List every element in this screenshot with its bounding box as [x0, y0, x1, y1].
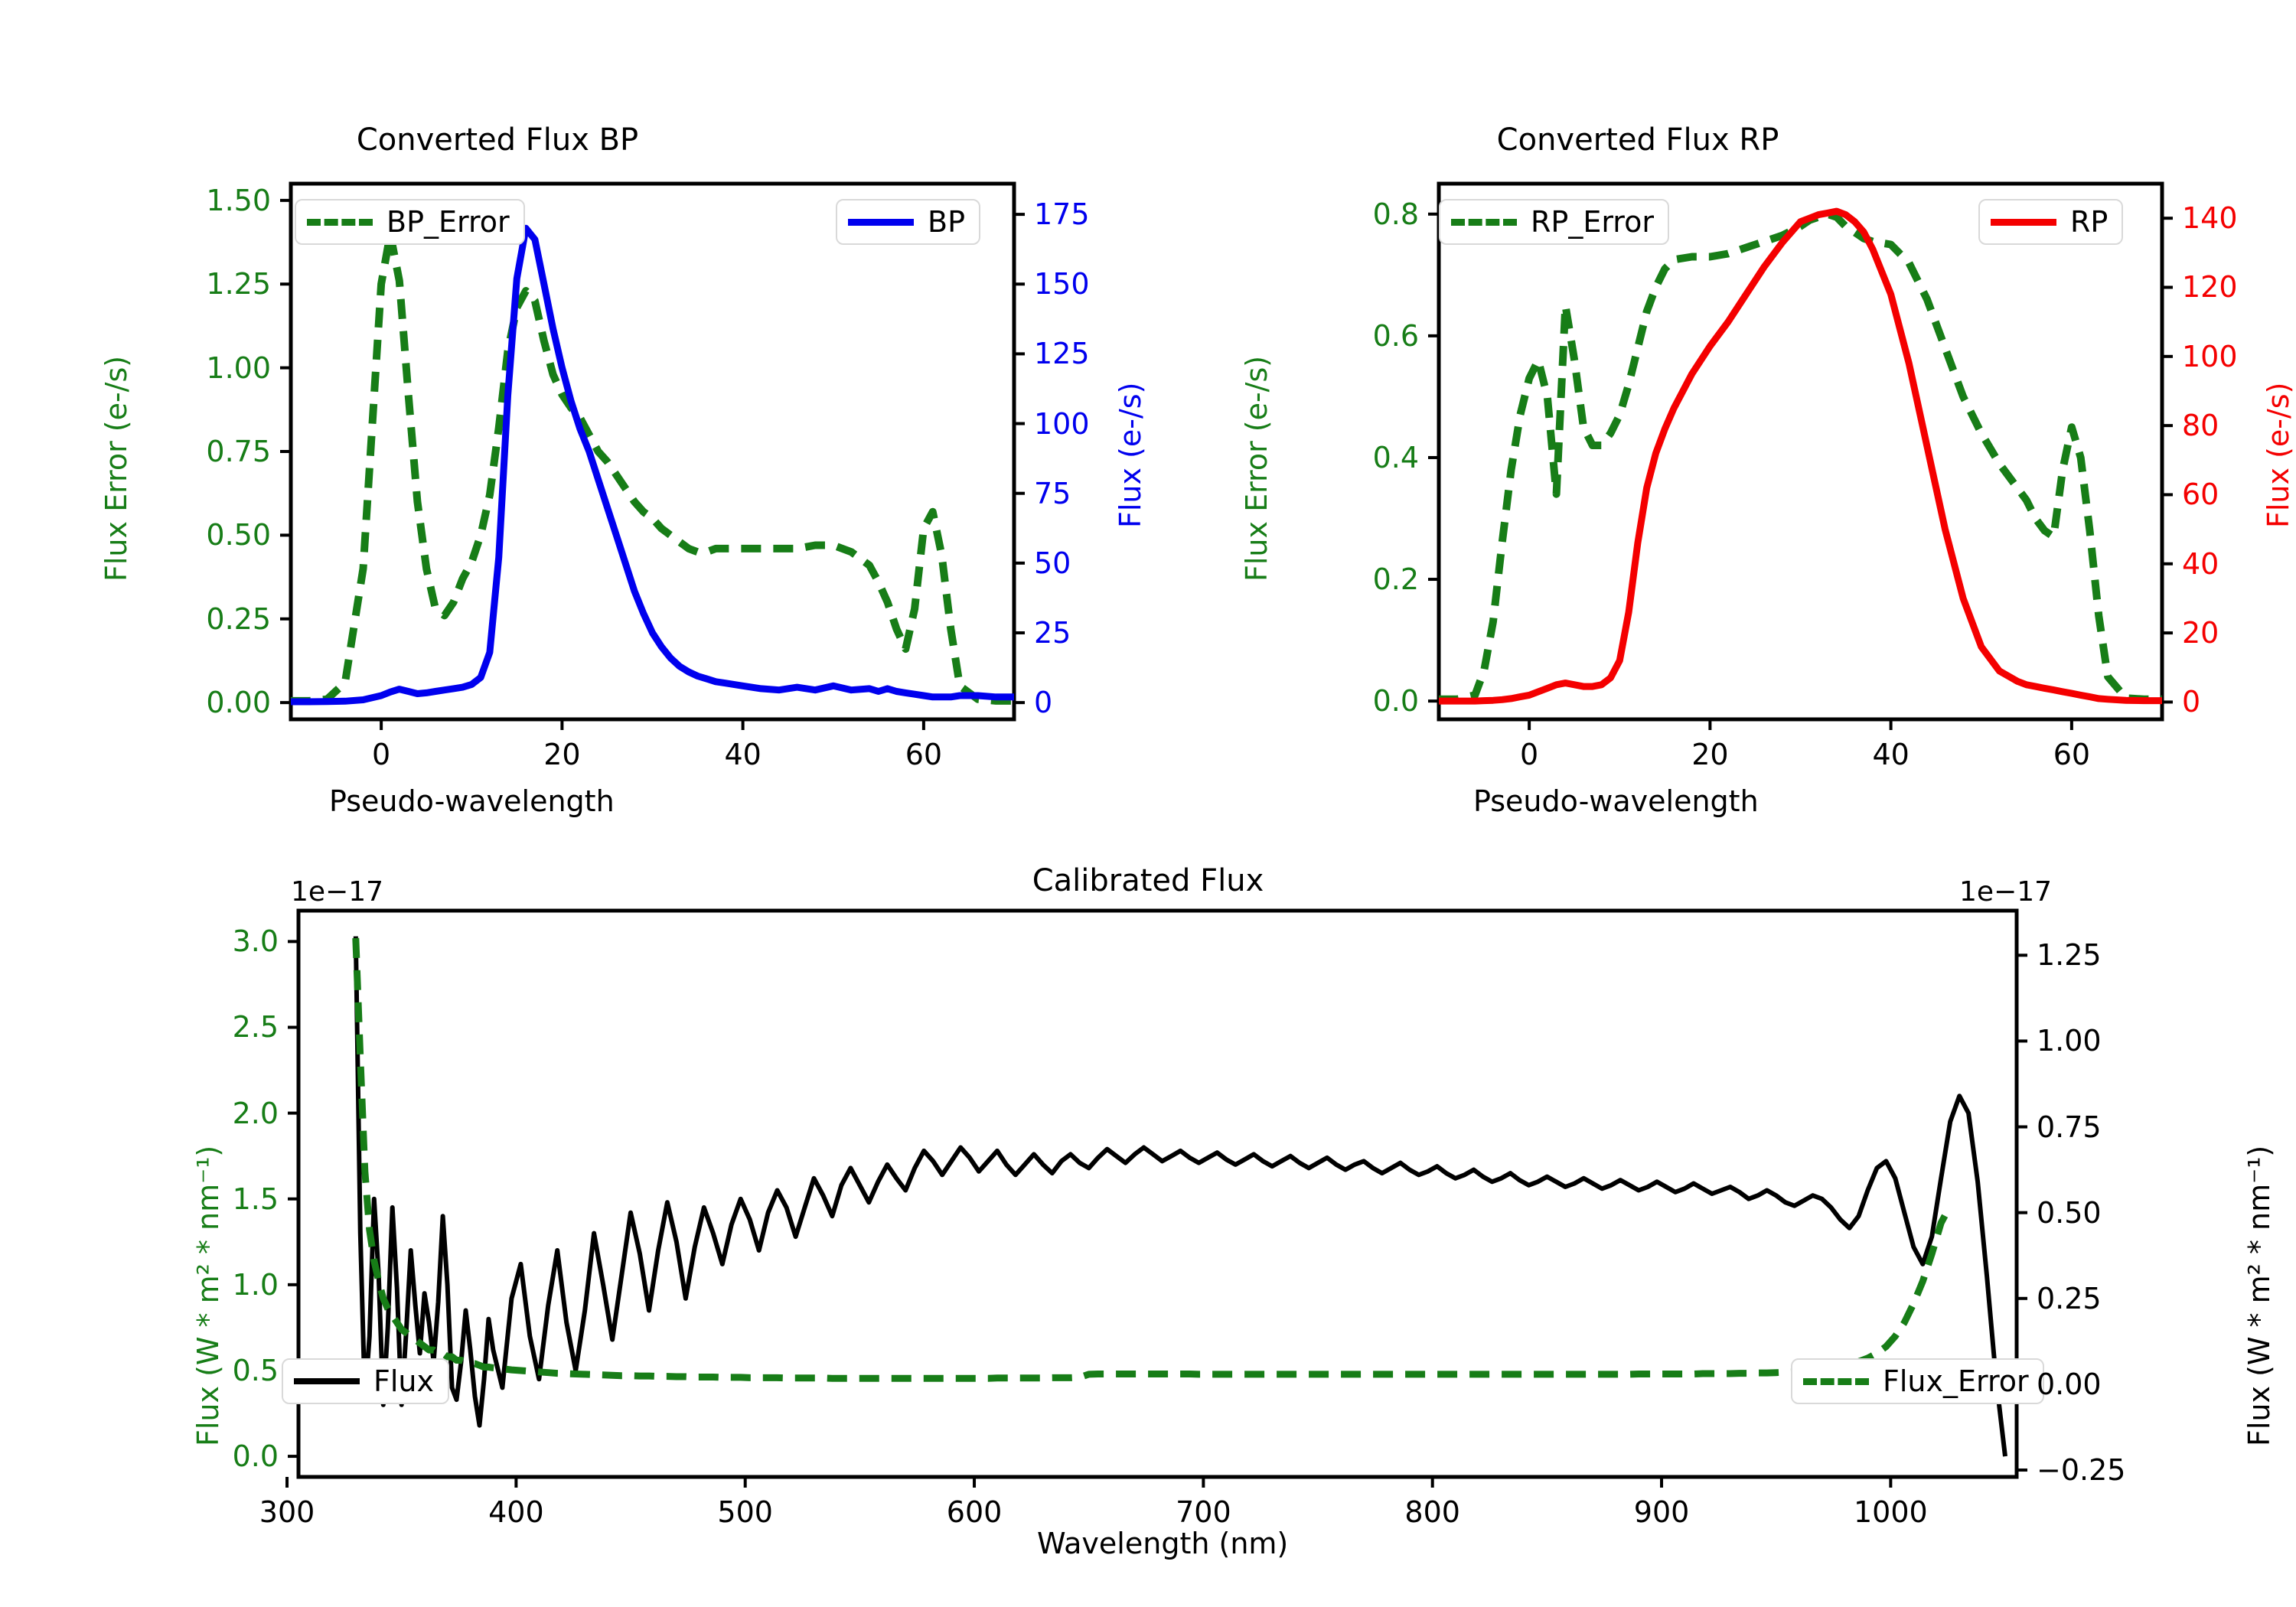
- x-tick-label: 600: [947, 1495, 1003, 1529]
- x-tick-label: 0: [1520, 738, 1538, 771]
- rp-legend[interactable]: RP: [1978, 199, 2123, 245]
- flux-error-legend[interactable]: Flux_Error: [1791, 1358, 2044, 1404]
- y-tick-label-right: 175: [1034, 197, 1090, 231]
- x-tick-label: 60: [905, 738, 942, 771]
- y-tick-label-left: 0.2: [1373, 562, 1419, 596]
- rp-error-legend[interactable]: RP_Error: [1439, 199, 1669, 245]
- y-tick-label-right: 0.50: [2037, 1196, 2102, 1230]
- y-tick-label-left: 0.5: [233, 1354, 279, 1387]
- y-tick-label-right: 20: [2182, 616, 2219, 650]
- y-tick-label-right: 1.25: [2037, 938, 2102, 972]
- y-tick-label-right: 50: [1034, 546, 1071, 580]
- dashed-green-line-icon: [1451, 219, 1517, 226]
- x-tick-label: 800: [1404, 1495, 1460, 1529]
- dashed-green-line-icon: [307, 219, 373, 226]
- y-tick-label-left: 0.00: [206, 686, 271, 719]
- cal-plot-svg: [0, 803, 2296, 1607]
- y-tick-label-right: 0: [2182, 685, 2200, 719]
- y-tick-label-left: 1.5: [233, 1182, 279, 1216]
- plot-frame: [1439, 184, 2162, 719]
- y-tick-label-left: 0.6: [1373, 319, 1419, 353]
- flux-legend[interactable]: Flux: [282, 1358, 449, 1404]
- x-tick-label: 40: [724, 738, 761, 771]
- x-tick-label: 700: [1176, 1495, 1231, 1529]
- y-tick-label-right: 0.25: [2037, 1282, 2102, 1315]
- bp-legend-label: BP: [928, 205, 965, 239]
- y-tick-label-left: 2.0: [233, 1097, 279, 1130]
- y-tick-label-left: 0.50: [206, 518, 271, 552]
- x-tick-label: 500: [717, 1495, 773, 1529]
- series-line-rp: [1439, 211, 2162, 701]
- y-tick-label-right: 40: [2182, 547, 2219, 581]
- rp-error-legend-label: RP_Error: [1531, 205, 1654, 239]
- y-tick-label-left: 0.0: [1373, 684, 1419, 718]
- bp-error-legend[interactable]: BP_Error: [295, 199, 525, 245]
- y-tick-label-left: 1.00: [206, 351, 271, 385]
- y-tick-label-left: 3.0: [233, 924, 279, 958]
- x-tick-label: 40: [1872, 738, 1909, 771]
- y-tick-label-left: 1.25: [206, 267, 271, 301]
- x-tick-label: 400: [488, 1495, 544, 1529]
- y-tick-label-left: 0.75: [206, 435, 271, 468]
- rp-plot-svg: [1148, 0, 2296, 803]
- y-tick-label-right: 25: [1034, 616, 1071, 650]
- y-tick-label-right: −0.25: [2037, 1453, 2125, 1487]
- y-tick-label-left: 0.8: [1373, 197, 1419, 231]
- y-tick-label-right: 140: [2182, 201, 2238, 235]
- y-tick-label-right: 1.00: [2037, 1024, 2102, 1058]
- y-tick-label-right: 0: [1034, 686, 1052, 719]
- y-tick-label-right: 60: [2182, 478, 2219, 511]
- series-line-flux_error: [356, 938, 1950, 1378]
- y-tick-label-right: 80: [2182, 409, 2219, 442]
- flux-legend-label: Flux: [373, 1364, 434, 1398]
- x-tick-label: 900: [1634, 1495, 1690, 1529]
- figure-canvas: Converted Flux BP Flux Error (e-/s) Flux…: [0, 0, 2296, 1607]
- y-tick-label-left: 2.5: [233, 1010, 279, 1044]
- y-tick-label-left: 1.50: [206, 184, 271, 217]
- rp-legend-label: RP: [2070, 205, 2108, 239]
- x-tick-label: 20: [1691, 738, 1728, 771]
- solid-black-line-icon: [294, 1378, 360, 1384]
- y-tick-label-left: 1.0: [233, 1268, 279, 1302]
- y-tick-label-right: 100: [1034, 407, 1090, 441]
- y-tick-label-right: 0.00: [2037, 1367, 2102, 1401]
- solid-blue-line-icon: [848, 219, 914, 226]
- y-tick-label-left: 0.25: [206, 602, 271, 636]
- bp-legend[interactable]: BP: [836, 199, 980, 245]
- y-tick-label-right: 0.75: [2037, 1110, 2102, 1144]
- x-tick-label: 300: [259, 1495, 315, 1529]
- solid-red-line-icon: [1991, 219, 2056, 226]
- x-tick-label: 20: [543, 738, 580, 771]
- series-line-rp_error: [1439, 214, 2162, 699]
- y-tick-label-left: 0.4: [1373, 441, 1419, 474]
- y-tick-label-right: 125: [1034, 337, 1090, 370]
- flux-error-legend-label: Flux_Error: [1883, 1364, 2029, 1398]
- x-tick-label: 60: [2053, 738, 2090, 771]
- y-tick-label-right: 75: [1034, 477, 1071, 510]
- y-tick-label-right: 150: [1034, 267, 1090, 301]
- x-tick-label: 1000: [1854, 1495, 1928, 1529]
- panel-converted-flux-rp: Converted Flux RP Flux Error (e-/s) Flux…: [1148, 0, 2296, 803]
- y-tick-label-left: 0.0: [233, 1439, 279, 1473]
- panel-calibrated-flux: Calibrated Flux 1e−17 1e−17 Flux (W * m²…: [0, 803, 2296, 1607]
- panel-converted-flux-bp: Converted Flux BP Flux Error (e-/s) Flux…: [0, 0, 1148, 803]
- bp-plot-svg: [0, 0, 1148, 803]
- x-tick-label: 0: [372, 738, 390, 771]
- y-tick-label-right: 120: [2182, 270, 2238, 304]
- bp-error-legend-label: BP_Error: [386, 205, 510, 239]
- y-tick-label-right: 100: [2182, 340, 2238, 373]
- dashed-green-line-icon: [1803, 1378, 1869, 1385]
